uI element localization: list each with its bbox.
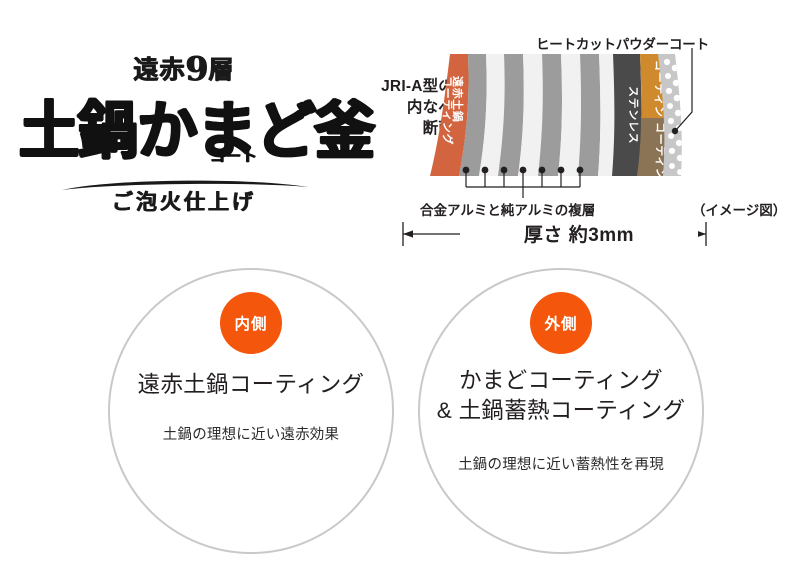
feature-circle-inner: 内側 遠赤土鍋コーティング 土鍋の理想に近い遠赤効果 [108, 268, 394, 554]
circle-inner-subtitle: 土鍋の理想に近い遠赤効果 [110, 423, 392, 444]
logo-kicker: 遠赤9層 [14, 52, 354, 85]
logo-main-text: 土鍋かまど釜 [19, 87, 349, 175]
badge-inner: 内側 [220, 292, 282, 354]
cross-section-diagram: JRI-A型の 内なべ 断面 ヒートカットパウダーコート 遠赤土鍋 コーティング [340, 24, 792, 264]
circle-outer-title: かまどコーティング & 土鍋蓄熱コーティング [420, 366, 702, 426]
logo-kicker-number: 9 [186, 49, 209, 88]
feature-circle-outer: 外側 かまどコーティング & 土鍋蓄熱コーティング 土鍋の理想に近い蓄熱性を再現 [418, 268, 704, 554]
logo-tagline: ご泡火仕上げ [14, 186, 354, 216]
circle-outer-title-line2: & 土鍋蓄熱コーティング [420, 396, 702, 426]
logo-main-wrap: 土鍋かまど釜 コート [14, 87, 354, 179]
circle-inner-title-line1: 遠赤土鍋コーティング [138, 372, 365, 397]
circle-inner-title: 遠赤土鍋コーティング [110, 370, 392, 400]
product-logo: 遠赤9層 土鍋かまど釜 コート ご泡火仕上げ [14, 52, 354, 232]
circle-outer-title-line1: かまどコーティング [459, 368, 663, 393]
logo-coat-text: コート [210, 145, 258, 166]
thickness-label: 厚さ 約3mm [460, 220, 698, 247]
logo-kicker-post: 層 [208, 55, 234, 84]
dimension-arrow-left [403, 230, 413, 237]
badge-outer: 外側 [530, 292, 592, 354]
infographic-page: 遠赤9層 土鍋かまど釜 コート ご泡火仕上げ JRI-A型の 内なべ 断面 ヒー… [0, 0, 800, 571]
circle-outer-subtitle: 土鍋の理想に近い蓄熱性を再現 [420, 453, 702, 474]
logo-kicker-pre: 遠赤 [134, 55, 186, 84]
